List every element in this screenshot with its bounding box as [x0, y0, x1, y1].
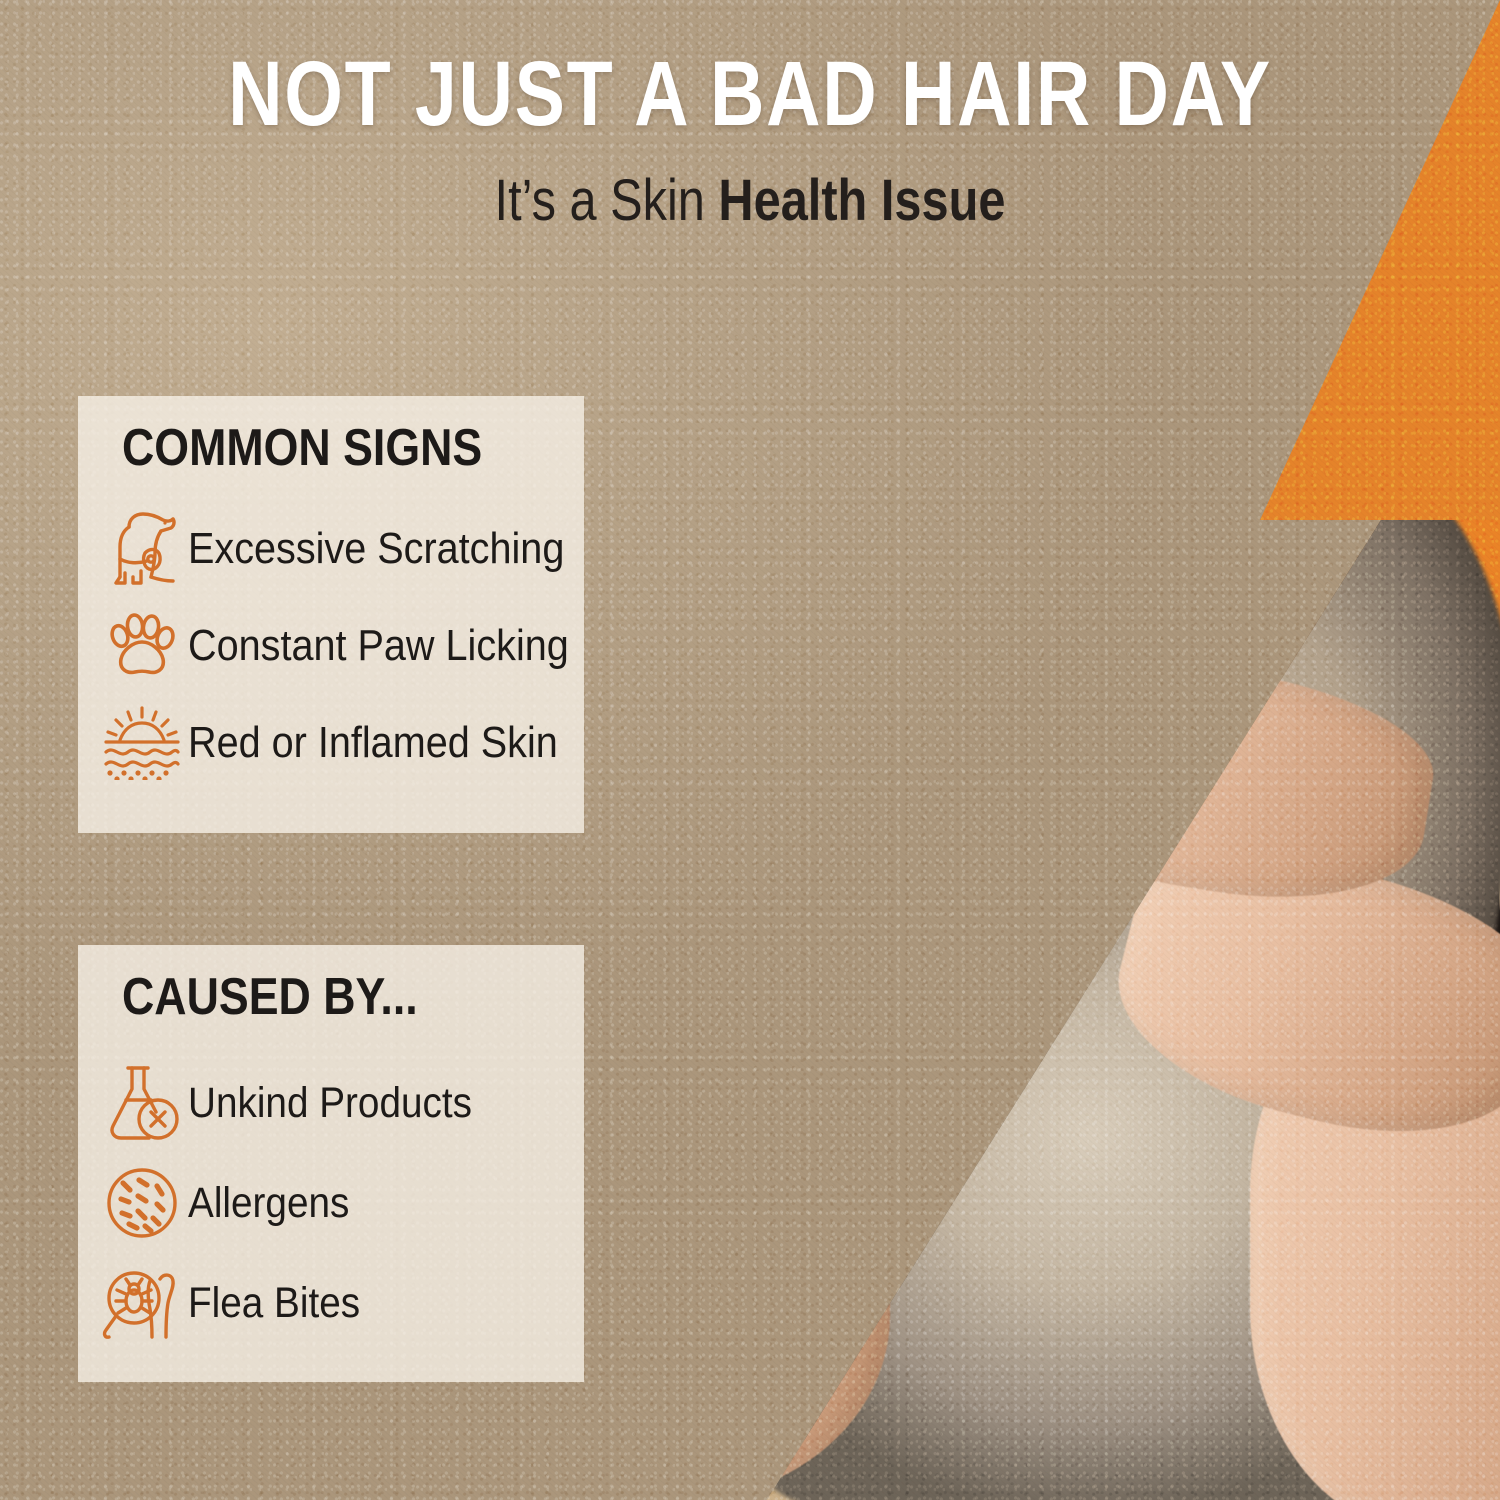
- fingernail: [823, 863, 930, 993]
- list-item: Flea Bites: [96, 1253, 574, 1353]
- skin-lesion: [938, 622, 1002, 696]
- subtitle-bold-part: Health Issue: [718, 168, 1005, 233]
- subtitle-light-part: It’s a Skin: [495, 168, 719, 233]
- caused-by-heading: CAUSED BY...: [122, 971, 418, 1023]
- list-item: Excessive Scratching: [96, 500, 574, 597]
- common-signs-list: Excessive Scratching Constant Paw Lickin…: [96, 500, 574, 791]
- list-item-label: Flea Bites: [188, 1282, 360, 1325]
- flea-magnifier-icon: [96, 1260, 188, 1346]
- infographic-canvas: NOT JUST A BAD HAIR DAY It’s a Skin Heal…: [0, 0, 1500, 1500]
- left-hand: [560, 520, 1070, 1380]
- common-signs-heading: COMMON SIGNS: [122, 422, 482, 474]
- finger: [985, 638, 1444, 923]
- dog-muzzle: [838, 344, 1211, 806]
- finger: [589, 624, 962, 907]
- skin-lesion: [939, 379, 1057, 518]
- skin-lesion: [1014, 447, 1142, 583]
- skin-lesion: [1006, 635, 1090, 732]
- list-item-label: Red or Inflamed Skin: [188, 721, 558, 765]
- flask-no-icon: [96, 1060, 188, 1146]
- caused-by-card: CAUSED BY... Unkind Products: [78, 945, 584, 1382]
- paw-print-icon: [96, 603, 188, 689]
- skin-lesion: [952, 514, 1047, 622]
- list-item-label: Unkind Products: [188, 1082, 472, 1125]
- list-item: Constant Paw Licking: [96, 597, 574, 694]
- list-item-label: Allergens: [188, 1182, 349, 1225]
- finger: [560, 795, 947, 1065]
- list-item: Unkind Products: [96, 1053, 574, 1153]
- fingernail: [837, 696, 950, 825]
- finger: [633, 466, 977, 764]
- fingernail: [832, 528, 964, 669]
- page-subtitle: It’s a Skin Health Issue: [120, 172, 1380, 230]
- common-signs-card: COMMON SIGNS: [78, 396, 584, 833]
- list-item-label: Constant Paw Licking: [188, 624, 569, 668]
- fingernail: [1010, 691, 1133, 830]
- irritated-skin-icon: [96, 700, 188, 786]
- finger: [560, 971, 931, 1239]
- list-item-label: Excessive Scratching: [188, 527, 564, 571]
- dog-scratching-icon: [96, 506, 188, 592]
- allergen-petri-icon: [96, 1160, 188, 1246]
- caused-by-list: Unkind Products: [96, 1053, 574, 1353]
- list-item: Red or Inflamed Skin: [96, 694, 574, 791]
- list-item: Allergens: [96, 1153, 574, 1253]
- page-title: NOT JUST A BAD HAIR DAY: [135, 48, 1365, 140]
- right-hand: [1000, 640, 1500, 1500]
